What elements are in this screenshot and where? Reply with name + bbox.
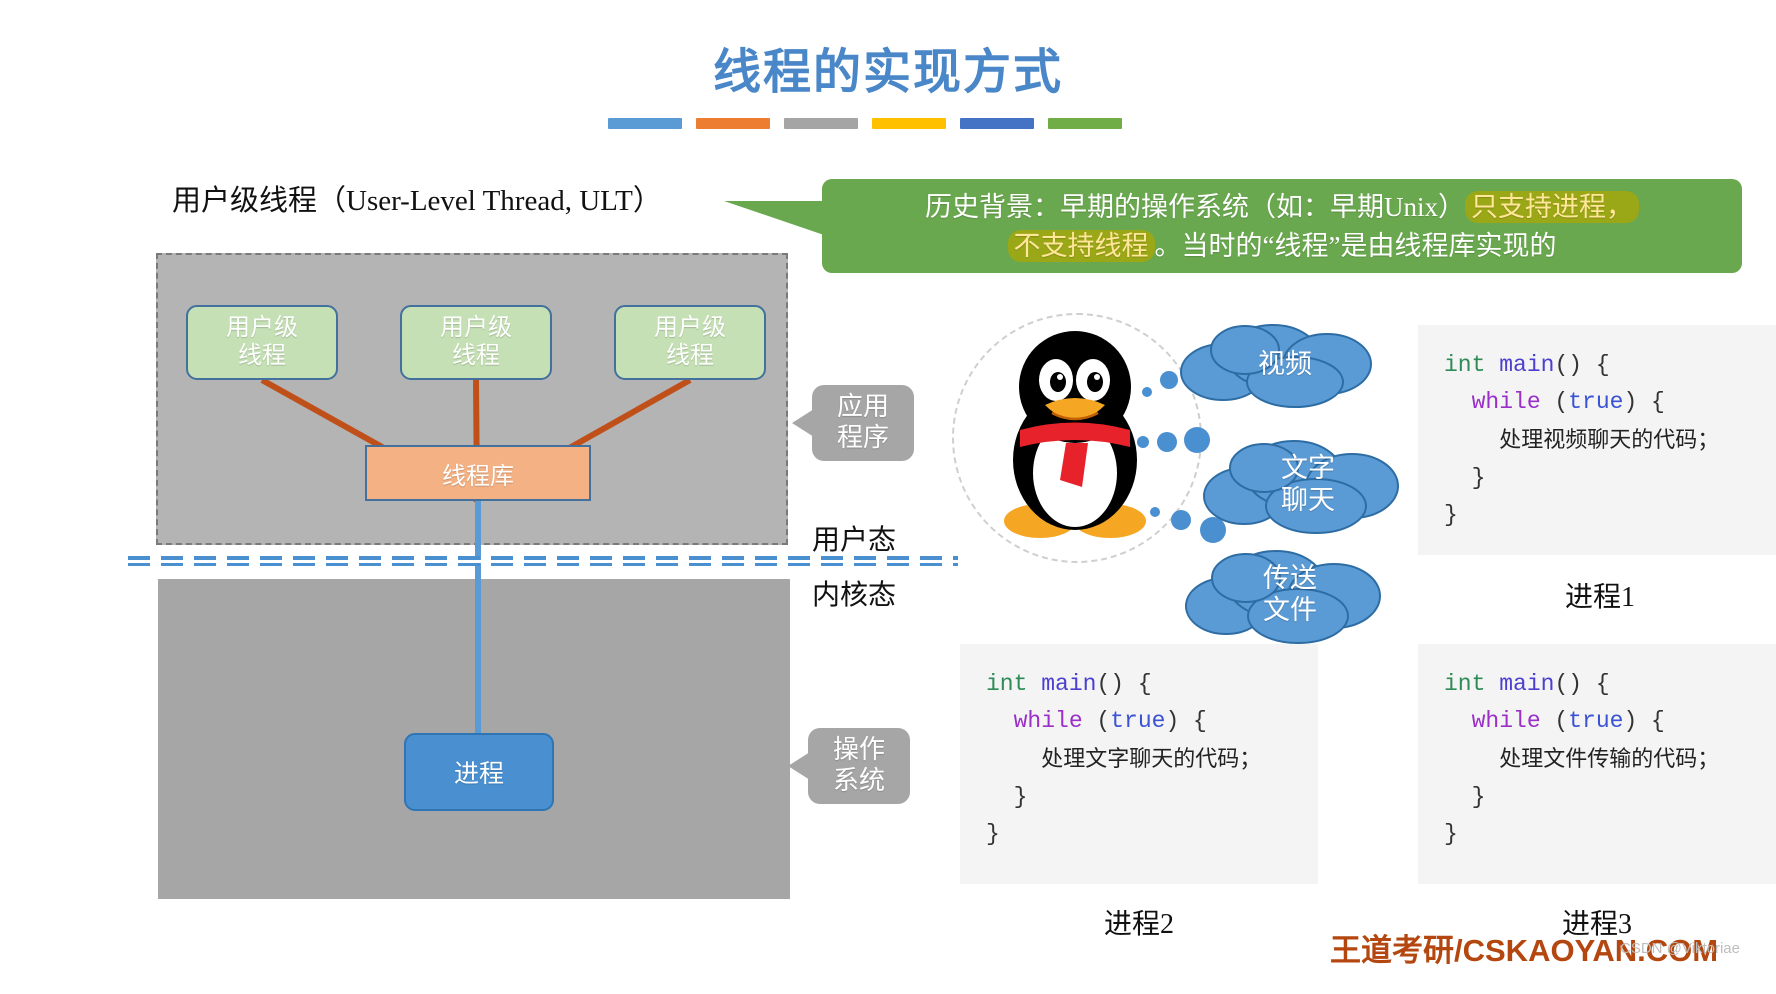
cloud-bubble-text-chat: 文字 聊天: [1198, 430, 1418, 540]
code3-rest4: }: [1444, 821, 1458, 847]
cloud-file-line2: 文件: [1263, 595, 1317, 627]
accent-bar-2: [696, 118, 770, 129]
code1-bool: true: [1568, 389, 1623, 415]
code2-bool: true: [1110, 708, 1165, 734]
user-level-thread-3: 用户级 线程: [614, 305, 766, 380]
code3-bool: true: [1568, 708, 1623, 734]
cloud-file-line1: 传送: [1263, 563, 1317, 595]
code2-fn: main: [1041, 671, 1096, 697]
code1-fn: main: [1499, 352, 1554, 378]
user-level-thread-1: 用户级 线程: [186, 305, 338, 380]
code1-kw: while: [1472, 389, 1541, 415]
code2-kw: while: [1014, 708, 1083, 734]
user-level-thread-2: 用户级 线程: [400, 305, 552, 380]
code2-rest4: }: [986, 821, 1000, 847]
code2-rest1: ) {: [1165, 708, 1206, 734]
os-callout-line1: 操作: [833, 735, 885, 766]
page-title: 线程的实现方式: [0, 32, 1776, 102]
title-accent-bars: [608, 118, 1122, 129]
ult-heading: 用户级线程（User-Level Thread, ULT）: [172, 177, 662, 219]
application-callout-line2: 程序: [837, 423, 889, 454]
cloud-textchat-line1: 文字: [1281, 453, 1335, 485]
callout-text-part2: 。当时的“线程”是由线程库实现的: [1155, 231, 1557, 261]
cloud-textchat-line2: 聊天: [1281, 485, 1335, 517]
code1-rest0: () {: [1554, 352, 1609, 378]
code1-rest4: }: [1444, 502, 1458, 528]
accent-bar-1: [608, 118, 682, 129]
cloud-bubble-video: 视频: [1175, 320, 1395, 410]
cloud-bubble-file-transfer: 传送 文件: [1180, 540, 1400, 650]
process-2-label: 进程2: [1104, 902, 1174, 942]
accent-bar-4: [872, 118, 946, 129]
process-3-code: int main() { while (true) { 处理文件传输的代码； }…: [1418, 644, 1776, 884]
ult-2-line2: 线程: [452, 343, 500, 371]
os-callout-line2: 系统: [833, 766, 885, 797]
process-1-label: 进程1: [1565, 575, 1635, 615]
code3-kw: while: [1472, 708, 1541, 734]
cloud-video-line1: 视频: [1258, 349, 1312, 381]
slide-root: 线程的实现方式 用户级线程（User-Level Thread, ULT） 用户…: [0, 0, 1776, 994]
csdn-tag: CSDN @Viktoriae: [1620, 940, 1740, 957]
accent-bar-3: [784, 118, 858, 129]
code2-rest0: () {: [1096, 671, 1151, 697]
process-box: 进程: [404, 733, 554, 811]
application-callout-line1: 应用: [837, 392, 889, 423]
user-mode-area: [156, 253, 788, 545]
kernel-mode-label: 内核态: [812, 573, 896, 613]
ult-3-line2: 线程: [666, 343, 714, 371]
ult-3-line1: 用户级: [654, 315, 726, 343]
code3-rest0: () {: [1554, 671, 1609, 697]
code3-fn: main: [1499, 671, 1554, 697]
code2-comment: 处理文字聊天的代码；: [1041, 746, 1261, 771]
ult-2-line1: 用户级: [440, 315, 512, 343]
callout-highlight-1: 只支持进程，: [1465, 191, 1639, 223]
code3-paren: (: [1541, 708, 1569, 734]
history-background-callout: 历史背景：早期的操作系统（如：早期Unix）只支持进程， 不支持线程。当时的“线…: [822, 179, 1742, 273]
code2-paren: (: [1083, 708, 1111, 734]
callout-text-part1: 历史背景：早期的操作系统（如：早期Unix）: [925, 192, 1465, 222]
code1-type: int: [1444, 352, 1499, 378]
code1-paren: (: [1541, 389, 1569, 415]
code1-rest1: ) {: [1623, 389, 1664, 415]
code3-rest1: ) {: [1623, 708, 1664, 734]
thread-library-box: 线程库: [365, 445, 591, 501]
ult-1-line2: 线程: [238, 343, 286, 371]
user-mode-label: 用户态: [812, 518, 896, 558]
application-callout: 应用 程序: [812, 385, 914, 461]
operating-system-callout: 操作 系统: [808, 728, 910, 804]
process-2-code: int main() { while (true) { 处理文字聊天的代码； }…: [960, 644, 1318, 884]
ult-1-line1: 用户级: [226, 315, 298, 343]
code3-type: int: [1444, 671, 1499, 697]
code1-rest3: }: [1472, 465, 1486, 491]
callout-highlight-2: 不支持线程: [1008, 230, 1155, 262]
accent-bar-6: [1048, 118, 1122, 129]
code3-rest3: }: [1472, 784, 1486, 810]
code2-type: int: [986, 671, 1041, 697]
process-1-code: int main() { while (true) { 处理视频聊天的代码； }…: [1418, 325, 1776, 555]
code2-rest3: }: [1014, 784, 1028, 810]
accent-bar-5: [960, 118, 1034, 129]
code3-comment: 处理文件传输的代码；: [1499, 746, 1719, 771]
code1-comment: 处理视频聊天的代码；: [1499, 427, 1719, 452]
